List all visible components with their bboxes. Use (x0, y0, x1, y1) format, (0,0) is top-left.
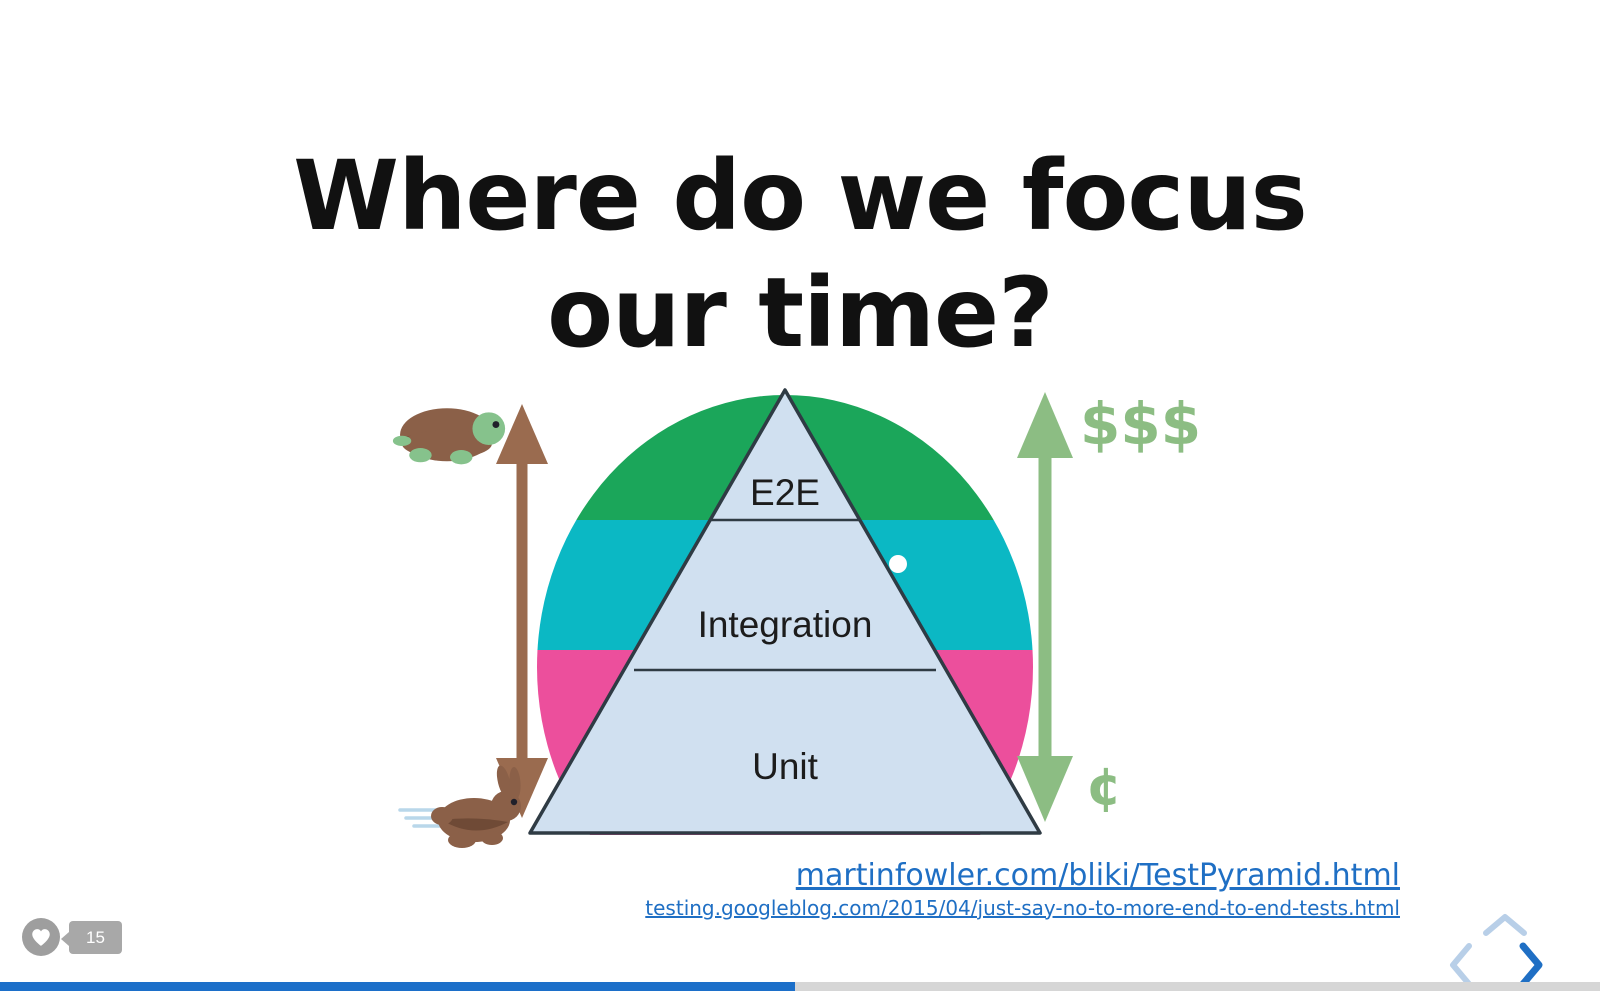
turtle-icon (393, 408, 505, 464)
heart-icon (31, 928, 51, 947)
cost-label-high: $$$ (1080, 390, 1201, 458)
pyramid-label-unit: Unit (752, 746, 819, 787)
citation-link-martinfowler[interactable]: martinfowler.com/bliki/TestPyramid.html (520, 858, 1400, 895)
speed-axis-arrow (496, 404, 548, 818)
cost-label-low: ¢ (1086, 757, 1122, 817)
page-title: Where do we focus our time? (160, 138, 1440, 372)
slide-canvas[interactable]: Where do we focus our time? (0, 0, 1600, 968)
slide-navigation (1426, 900, 1586, 990)
chevron-up-icon[interactable] (1482, 912, 1528, 943)
like-group: 15 (22, 918, 122, 956)
slide-number-badge: 15 (69, 921, 122, 954)
test-pyramid-diagram: E2E Integration Unit (0, 372, 1600, 852)
artifact-dot (889, 555, 907, 573)
pyramid-label-integration: Integration (698, 604, 873, 645)
rabbit-icon (400, 764, 522, 848)
progress-fill (0, 982, 795, 991)
like-button[interactable] (22, 918, 60, 956)
progress-track[interactable] (0, 982, 1600, 991)
pyramid-label-e2e: E2E (750, 472, 820, 513)
